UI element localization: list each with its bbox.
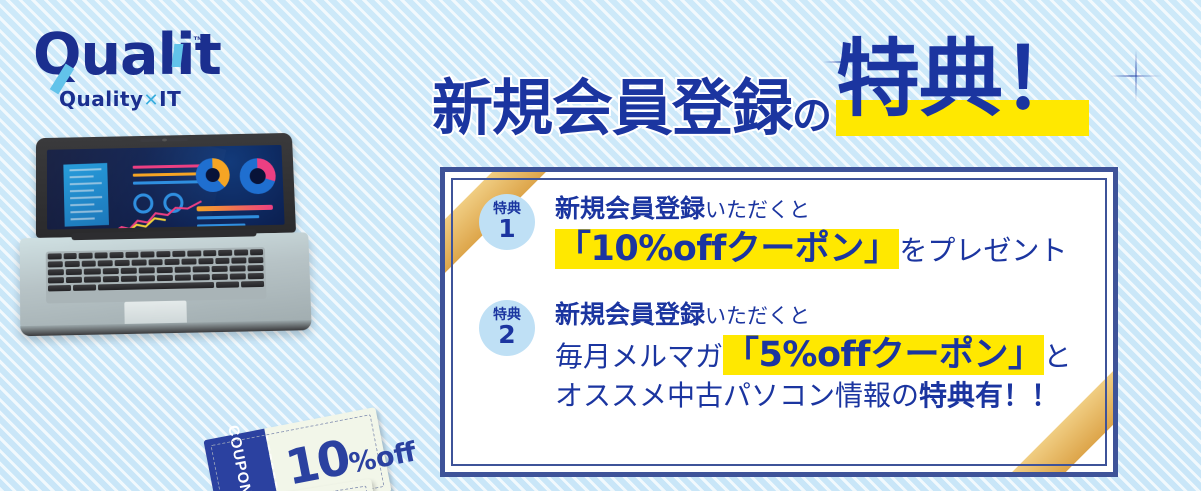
coupon-10-percent: COUPONQualit 10%off: [203, 407, 391, 491]
qualit-logo: Qualit ™ Quality✕IT: [33, 24, 218, 108]
benefit-1-coupon-phrase: 「10%offクーポン」: [555, 229, 899, 269]
headline-lead: 新規会員登録の: [432, 58, 831, 147]
benefit-2-text: 新規会員登録いただくと 毎月メルマガ「5%offクーポン」と オススメ中古パソコ…: [555, 300, 1072, 412]
badge-number: 2: [479, 323, 535, 347]
benefit-2-coupon-phrase: 「5%offクーポン」: [723, 335, 1043, 375]
donut-chart-1: [195, 158, 230, 193]
benefit-1-line-1: 新規会員登録いただくと: [555, 194, 1067, 223]
benefit-1-text: 新規会員登録いただくと 「10%offクーポン」をプレゼント: [555, 194, 1067, 270]
dashboard-side-panel: [63, 163, 109, 227]
laptop-illustration: COUPONQualit 10%off COUPONQualit 5%off: [14, 135, 314, 455]
trademark-symbol: ™: [193, 35, 204, 47]
cross-icon: ✕: [144, 90, 160, 111]
sparkle-star-icon-right: [1110, 50, 1162, 102]
laptop-lid: [36, 133, 296, 238]
benefit-1-badge: 特典 1: [479, 194, 535, 250]
headline-emphasis: 特典！: [836, 36, 1085, 122]
line-chart-icon: [109, 198, 220, 230]
benefit-1-line-2: 「10%offクーポン」をプレゼント: [555, 229, 1067, 270]
sparkle-star-icon-left: [823, 40, 867, 84]
promo-banner: Qualit ™ Quality✕IT: [0, 0, 1201, 491]
tagline-it: IT: [159, 87, 181, 111]
benefit-2-line-2: 毎月メルマガ「5%offクーポン」と: [555, 335, 1072, 376]
laptop-screen: [47, 145, 285, 230]
logo-tagline: Quality✕IT: [59, 87, 181, 111]
donut-chart-2: [239, 158, 276, 195]
laptop-keyboard: [46, 247, 267, 303]
laptop-base: [20, 232, 312, 334]
headline: 新規会員登録の 特典！: [432, 36, 1172, 136]
badge-number: 1: [479, 217, 535, 241]
tagline-quality: Quality: [59, 87, 144, 111]
benefits-box: 特典 1 新規会員登録いただくと 「10%offクーポン」をプレゼント 特典 2…: [440, 167, 1118, 477]
benefit-2-line-1: 新規会員登録いただくと: [555, 300, 1072, 329]
laptop-front-lip: [20, 320, 312, 336]
benefit-2-badge: 特典 2: [479, 300, 535, 356]
benefit-2-line-3: オススメ中古パソコン情報の特典有！！: [555, 380, 1072, 412]
